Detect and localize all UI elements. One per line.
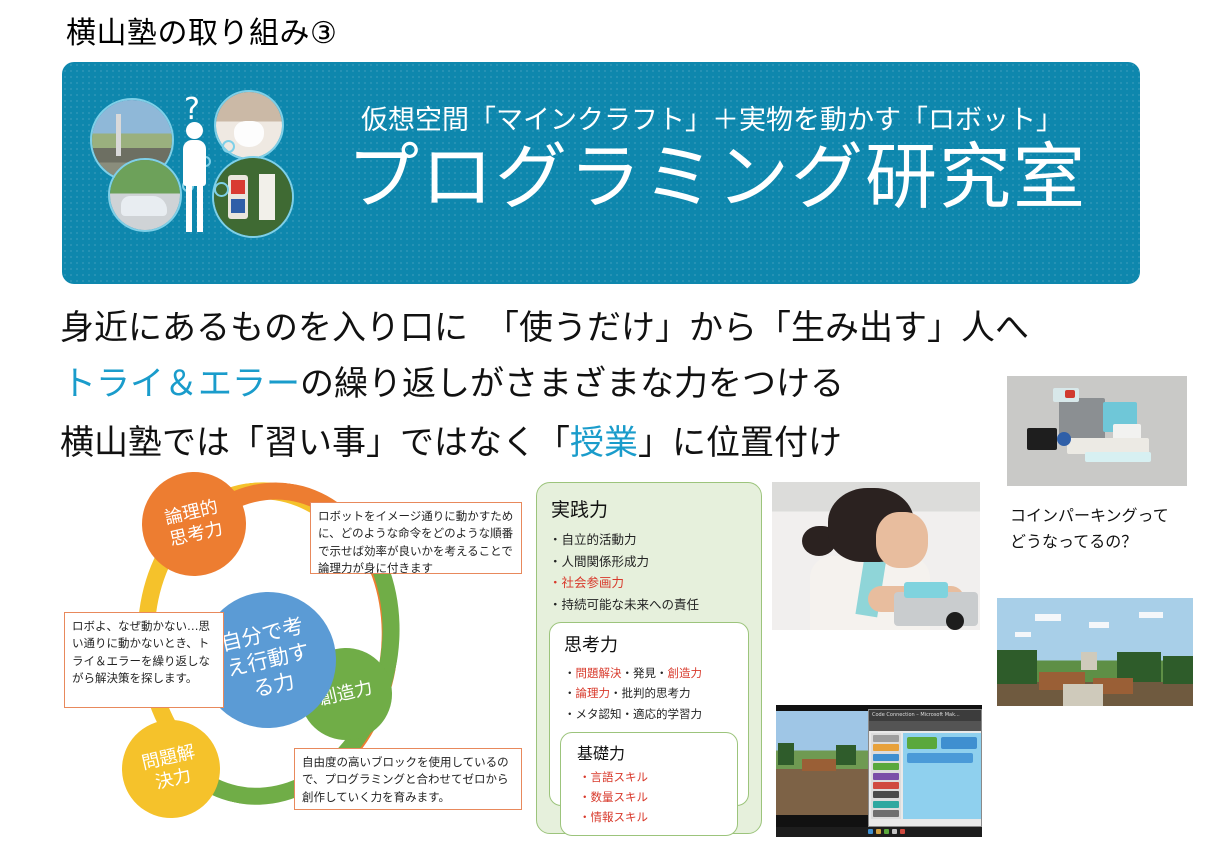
thinking-item-black: メタ認知・適応的学習力 <box>576 707 703 721</box>
banner-icon-cluster: ? <box>86 84 302 264</box>
basic-item: ・言語スキル <box>579 768 727 788</box>
banner-main-title: プログラミング研究室 <box>302 138 1132 217</box>
minecraft-village-landscape-photo <box>997 598 1193 706</box>
cycle-node-label: 問題解 決力 <box>140 741 203 797</box>
practice-item: ・人間関係形成力 <box>549 551 749 573</box>
callout-logical-thinking: ロボットをイメージ通りに動かすために、どのような命令をどのような順番で示せば効率… <box>310 502 522 574</box>
thinking-item: ・問題解決・発見・創造力 <box>564 663 738 683</box>
coin-parking-robot-model-photo <box>1007 376 1187 486</box>
bullet: ・ <box>564 686 576 700</box>
bubble-icon <box>214 182 229 197</box>
car-photo <box>108 158 182 232</box>
skills-cycle-diagram: 論理的 思考力 創造力 問題解 決力 自分で考 え行動す る力 ロボットをイメー… <box>60 470 530 840</box>
note-line-1: コインパーキングって <box>1010 503 1210 529</box>
basic-title: 基礎力 <box>577 740 727 764</box>
thinking-title: 思考力 <box>564 631 738 657</box>
bullet: ・ <box>564 666 576 680</box>
girl-building-robot-photo <box>772 482 980 630</box>
slide-root: 横山塾の取り組み③ ? 仮想空間「マインクラフト」＋実物を動かす「ロボット」 <box>0 0 1219 848</box>
cycle-node-label: 論理的 思考力 <box>163 496 226 552</box>
practice-item: ・自立的活動力 <box>549 529 749 551</box>
thinking-person-icon: ? <box>174 100 214 240</box>
title-banner: ? 仮想空間「マインクラフト」＋実物を動かす「ロボット」 プログラミング研究室 <box>62 62 1140 284</box>
tagline-line-3: 横山塾では「習い事」ではなく「授業」に位置付け <box>60 415 842 464</box>
thinking-item-black: ・発見・ <box>622 666 668 680</box>
cycle-center-label: 自分で考 え行動す る力 <box>218 612 318 708</box>
basic-item: ・情報スキル <box>579 808 727 828</box>
tagline-line-2: トライ＆エラーの繰り返しがさまざまな力をつける <box>62 356 844 405</box>
basic-item: ・数量スキル <box>579 788 727 808</box>
window-toolbar <box>869 721 981 731</box>
traffic-signal-photo <box>212 156 294 238</box>
window-title-bar: Code Connection – Microsoft Mak... <box>869 710 981 721</box>
code-connection-window: Code Connection – Microsoft Mak... <box>868 709 982 827</box>
page-title: 横山塾の取り組み③ <box>66 8 337 52</box>
block-canvas <box>903 733 981 819</box>
tagline-2-rest: の繰り返しがさまざまな力をつける <box>300 364 844 404</box>
thinking-item-red: 問題解決 <box>576 666 622 680</box>
basic-subpanel: 基礎力 ・言語スキル ・数量スキル ・情報スキル <box>560 732 738 836</box>
block-palette <box>871 733 901 819</box>
callout-problem-solving: ロボよ、なぜ動かない…思い通りに動かないとき、トライ＆エラーを繰り返しながら解決… <box>64 612 224 708</box>
skills-hierarchy-panel: 実践力 ・自立的活動力 ・人間関係形成力 ・社会参画力 ・持続可能な未来への責任… <box>536 482 762 834</box>
callout-creativity: 自由度の高いブロックを使用しているので、プログラミングと合わせてゼロから創作して… <box>294 748 522 810</box>
thinking-item: ・論理力・批判的思考力 <box>564 683 738 703</box>
minecraft-gameplay-pane <box>776 711 868 815</box>
practice-title: 実践力 <box>551 495 749 522</box>
thinking-subpanel: 思考力 ・問題解決・発見・創造力 ・論理力・批判的思考力 ・メタ認知・適応的学習… <box>549 622 749 806</box>
tagline-3-highlight: 授業 <box>570 423 638 463</box>
bullet: ・ <box>564 707 576 721</box>
coin-parking-question-note: コインパーキングって どうなってるの？ <box>1010 503 1210 556</box>
tagline-3-b: 」に位置付け <box>638 423 842 463</box>
banner-subtitle: 仮想空間「マインクラフト」＋実物を動かす「ロボット」 <box>302 98 1122 137</box>
note-line-2: どうなってるの？ <box>1010 529 1210 555</box>
thinking-item: ・メタ認知・適応的学習力 <box>564 704 738 724</box>
practice-item: ・社会参画力 <box>549 572 749 594</box>
windows-taskbar <box>776 827 982 837</box>
practice-item: ・持続可能な未来への責任 <box>549 594 749 616</box>
thinking-item-red: 論理力 <box>576 686 611 700</box>
tagline-2-highlight: トライ＆エラー <box>62 364 300 404</box>
thinking-item-red: 創造力 <box>668 666 703 680</box>
minecraft-code-connection-screenshot: Code Connection – Microsoft Mak... <box>776 705 982 837</box>
thinking-item-black: ・批判的思考力 <box>610 686 691 700</box>
tagline-line-1: 身近にあるものを入り口に 「使うだけ」から「生み出す」人へ <box>60 300 1029 349</box>
bubble-icon <box>222 140 235 153</box>
tagline-3-a: 横山塾では「習い事」ではなく「 <box>60 423 570 463</box>
